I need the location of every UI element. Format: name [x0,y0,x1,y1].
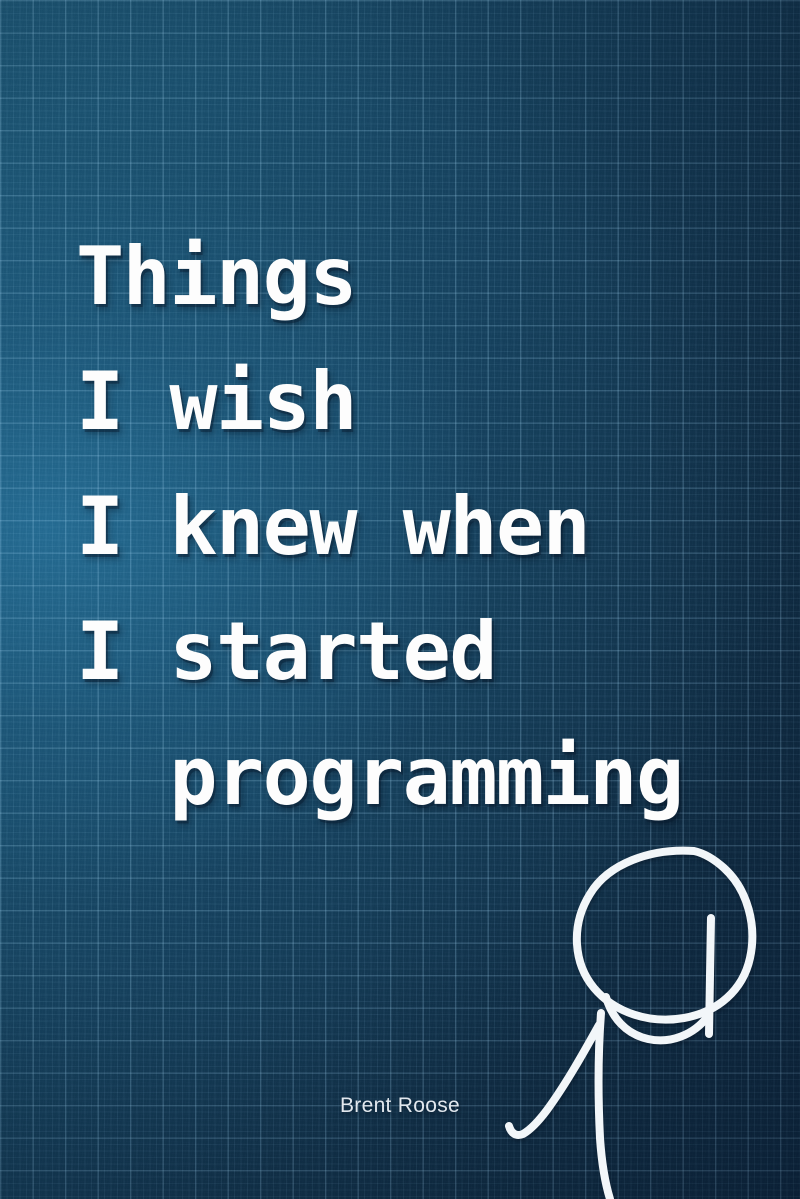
title-line-3: I knew when [0,464,800,589]
title-line-5: programming [0,714,800,839]
title-line-2: I wish [0,339,800,464]
title-line-4: I started [0,589,800,714]
author-credit: Brent Roose [0,1094,800,1118]
poster-canvas: Things I wish I knew when I started prog… [0,0,800,1199]
poster-title: Things I wish I knew when I started prog… [0,0,800,839]
title-line-1: Things [0,214,800,339]
